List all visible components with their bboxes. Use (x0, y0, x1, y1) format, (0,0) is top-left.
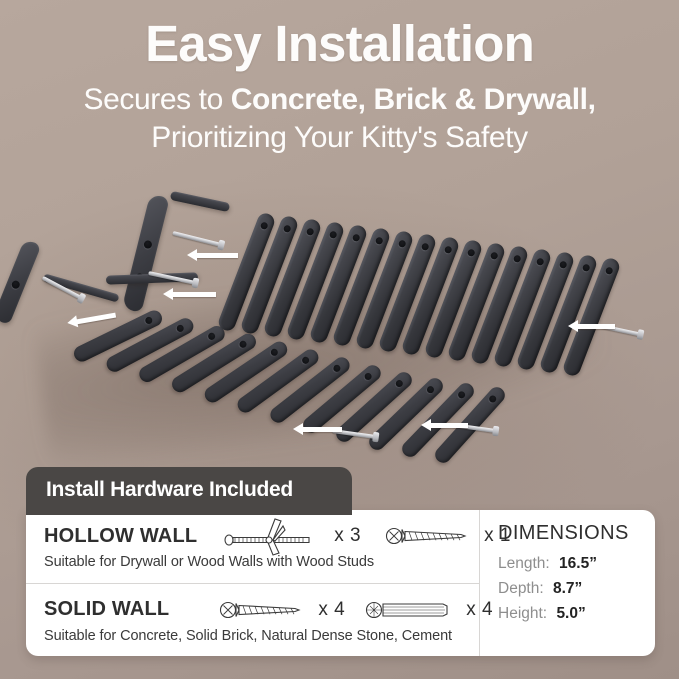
screw-fastener (172, 231, 221, 247)
subtitle-prefix: Secures to (83, 83, 230, 116)
install-hardware-card: HOLLOW WALL (26, 510, 655, 656)
screw-icon (385, 522, 477, 550)
dimension-depth: Depth: 8.7” (498, 576, 655, 601)
dimension-length: Length: 16.5” (498, 551, 655, 576)
screw-head (76, 293, 86, 305)
bracket-hole (143, 240, 153, 250)
solid-wall-description: Suitable for Concrete, Solid Brick, Natu… (44, 628, 479, 644)
callout-arrow (76, 313, 116, 325)
hollow-wall-label: HOLLOW WALL (44, 525, 197, 548)
callout-arrow (302, 427, 342, 432)
callout-arrow (196, 253, 238, 258)
hollow-wall-item-2: x 1 (385, 522, 511, 550)
hardware-rows: HOLLOW WALL (26, 510, 480, 656)
mounting-bracket-front (0, 239, 41, 325)
callout-arrow (430, 423, 468, 428)
dimension-height: Height: 5.0” (498, 601, 655, 626)
hardware-row-hollow-wall: HOLLOW WALL (26, 510, 479, 584)
dimension-depth-label: Depth: (498, 580, 544, 597)
product-image (0, 176, 679, 486)
solid-wall-qty-2: x 4 (466, 599, 493, 621)
hollow-wall-description: Suitable for Drywall or Wood Walls with … (44, 554, 479, 570)
hardware-row-header: HOLLOW WALL (44, 519, 479, 553)
dimension-height-value: 5.0” (556, 605, 585, 622)
hardware-row-solid-wall: SOLID WALL x 4 (26, 584, 479, 657)
header-block: Easy Installation Secures to Concrete, B… (0, 18, 679, 156)
screw-head (217, 239, 225, 250)
wall-anchor-icon (365, 596, 459, 624)
install-hardware-tab-label: Install Hardware Included (46, 478, 293, 501)
dimension-length-value: 16.5” (559, 555, 597, 572)
callout-arrow (577, 324, 615, 329)
subtitle-line-1: Secures to Concrete, Brick & Drywall, (0, 82, 679, 117)
install-hardware-tab: Install Hardware Included (26, 467, 352, 515)
bracket-hole (11, 279, 21, 289)
hollow-wall-item-1: x 3 (223, 516, 361, 556)
solid-wall-item-1: x 4 (219, 596, 345, 624)
toggle-bolt-icon (223, 516, 327, 556)
dimension-length-label: Length: (498, 555, 550, 572)
subtitle-line-2: Prioritizing Your Kitty's Safety (0, 120, 679, 155)
hardware-row-header: SOLID WALL x 4 (44, 593, 479, 627)
hollow-wall-qty-2: x 1 (484, 525, 511, 547)
screw-icon (219, 596, 311, 624)
callout-arrow (172, 292, 216, 297)
screw-head (192, 277, 200, 288)
dimensions-title: DIMENSIONS (498, 522, 655, 545)
infographic-root: Easy Installation Secures to Concrete, B… (0, 0, 679, 679)
solid-wall-label: SOLID WALL (44, 598, 169, 621)
dimension-depth-value: 8.7” (553, 580, 582, 597)
hollow-wall-qty-1: x 3 (334, 525, 361, 547)
screw-head (492, 426, 499, 437)
page-title: Easy Installation (0, 18, 679, 70)
subtitle-bold-materials: Concrete, Brick & Drywall, (231, 83, 596, 116)
screw-head (637, 329, 645, 340)
solid-wall-qty-1: x 4 (318, 599, 345, 621)
slat-assembly (0, 176, 679, 486)
dimension-height-label: Height: (498, 605, 547, 622)
solid-wall-item-2: x 4 (365, 596, 493, 624)
bracket-rail-top (170, 191, 231, 212)
